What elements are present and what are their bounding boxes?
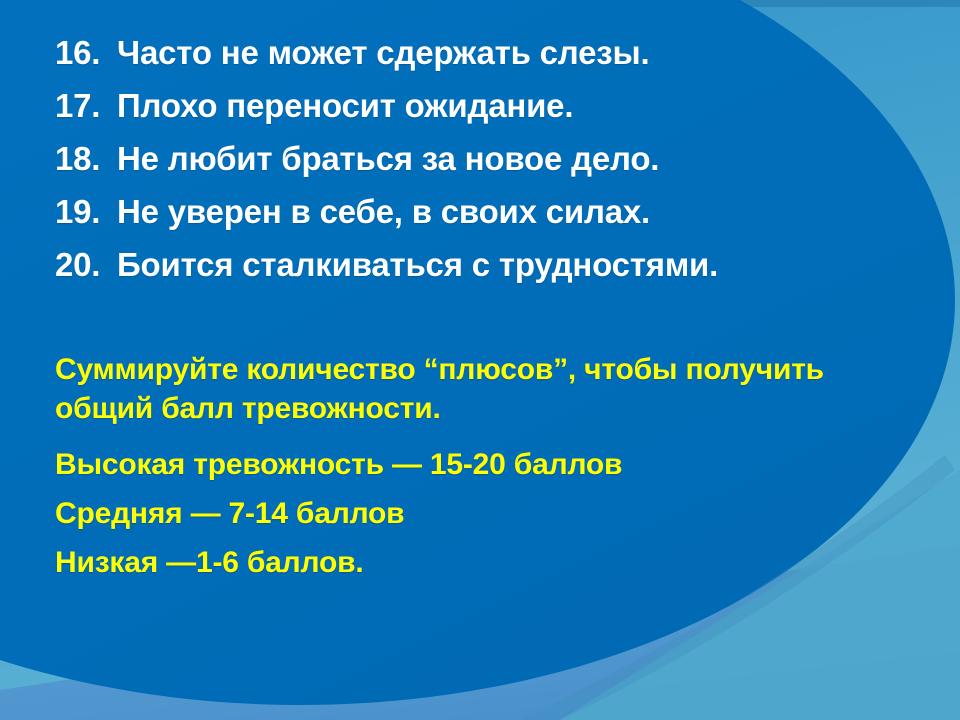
list-item-text: Часто не может сдержать слезы. [117,26,649,79]
list-item: 20. Боится сталкиваться с трудностями. [55,238,935,291]
list-item: 17. Плохо переносит ожидание. [55,79,935,132]
list-item-text: Не любит браться за новое дело. [117,132,659,185]
list-item: 16. Часто не может сдержать слезы. [55,26,935,79]
question-list: 16. Часто не может сдержать слезы. 17. П… [55,26,935,291]
list-item-number: 17. [55,79,117,132]
scoring-level-medium: Средняя — 7-14 баллов [55,489,935,538]
slide-canvas: 16. Часто не может сдержать слезы. 17. П… [0,0,960,720]
list-item: 19. Не уверен в себе, в своих силах. [55,185,935,238]
list-item-number: 16. [55,26,117,79]
scoring-notes: Суммируйте количество “плюсов”, чтобы по… [55,350,935,587]
list-item-text: Боится сталкиваться с трудностями. [117,238,718,291]
scoring-level-low: Низкая —1-6 баллов. [55,538,935,587]
scoring-level-high: Высокая тревожность — 15-20 баллов [55,440,935,489]
list-item-number: 19. [55,185,117,238]
list-item-text: Не уверен в себе, в своих силах. [117,185,650,238]
list-item-number: 20. [55,238,117,291]
list-item-number: 18. [55,132,117,185]
scoring-instruction: Суммируйте количество “плюсов”, чтобы по… [55,350,875,428]
slide-content: 16. Часто не может сдержать слезы. 17. П… [0,0,960,720]
list-item: 18. Не любит браться за новое дело. [55,132,935,185]
list-item-text: Плохо переносит ожидание. [117,79,573,132]
